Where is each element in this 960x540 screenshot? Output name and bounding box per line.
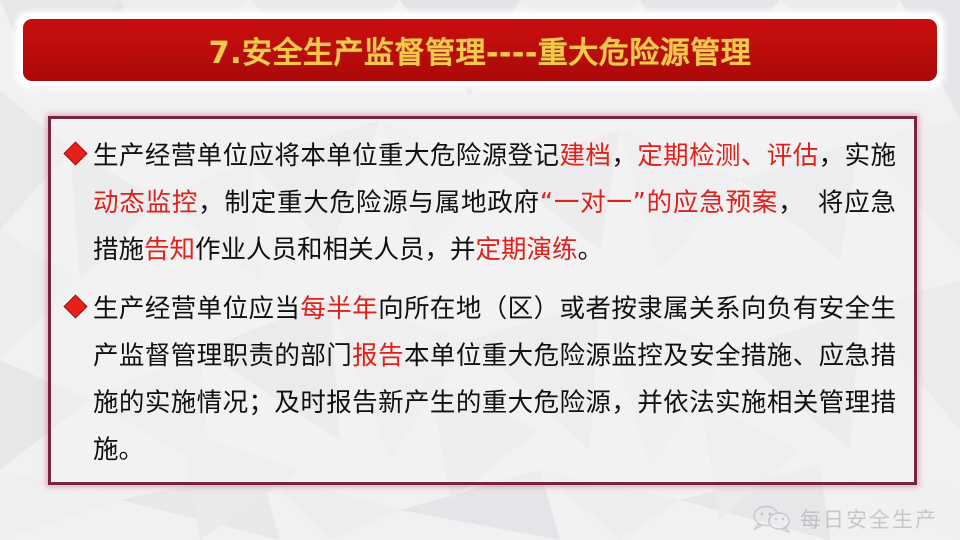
bullet-item-2: 生产经营单位应当每半年向所在地（区）或者按隶属关系向负有安全生产监督管理职责的部…	[65, 286, 896, 474]
highlighted-text: 告知	[144, 235, 195, 265]
highlighted-text: 动态监控	[93, 188, 198, 218]
bullet-paragraph-1: 生产经营单位应将本单位重大危险源登记建档，定期检测、评估，实施动态监控，制定重大…	[93, 133, 896, 274]
title-bar: 7.安全生产监督管理----重大危险源管理	[23, 19, 937, 81]
bullet-paragraph-2: 生产经营单位应当每半年向所在地（区）或者按隶属关系向负有安全生产监督管理职责的部…	[93, 286, 896, 474]
slide-canvas: 7.安全生产监督管理----重大危险源管理 生产经营单位应将本单位重大危险源登记…	[0, 0, 960, 540]
highlighted-text: 每半年	[300, 294, 378, 324]
watermark-text: 每日安全生产	[800, 504, 938, 534]
bullet-item-1: 生产经营单位应将本单位重大危险源登记建档，定期检测、评估，实施动态监控，制定重大…	[65, 133, 896, 274]
highlighted-text: 定期演练	[476, 235, 578, 265]
body-text: ，	[611, 141, 637, 171]
highlighted-text: 定期检测、评估	[637, 141, 818, 171]
watermark: 每日安全生产	[752, 504, 938, 534]
body-text: ，实施	[819, 141, 896, 171]
highlighted-text: 报告	[352, 341, 404, 371]
page-title: 7.安全生产监督管理----重大危险源管理	[209, 28, 752, 72]
diamond-bullet-icon	[63, 294, 87, 318]
body-text: ，制定重大危险源与属地政府	[198, 188, 540, 218]
body-text: 生产经营单位应将本单位重大危险源登记	[93, 141, 559, 171]
highlighted-text: “一对一”的应急预案	[540, 188, 778, 218]
body-text: 。	[578, 235, 604, 265]
highlighted-text: 建档	[559, 141, 611, 171]
wechat-icon	[752, 504, 792, 534]
content-box: 生产经营单位应将本单位重大危险源登记建档，定期检测、评估，实施动态监控，制定重大…	[48, 116, 917, 485]
body-text: 生产经营单位应当	[93, 294, 300, 324]
content-inner: 生产经营单位应将本单位重大危险源登记建档，定期检测、评估，实施动态监控，制定重大…	[51, 119, 914, 484]
title-bar-container: 7.安全生产监督管理----重大危险源管理	[18, 14, 942, 86]
body-text: 作业人员和相关人员，并	[195, 235, 476, 265]
diamond-bullet-icon	[63, 141, 87, 165]
